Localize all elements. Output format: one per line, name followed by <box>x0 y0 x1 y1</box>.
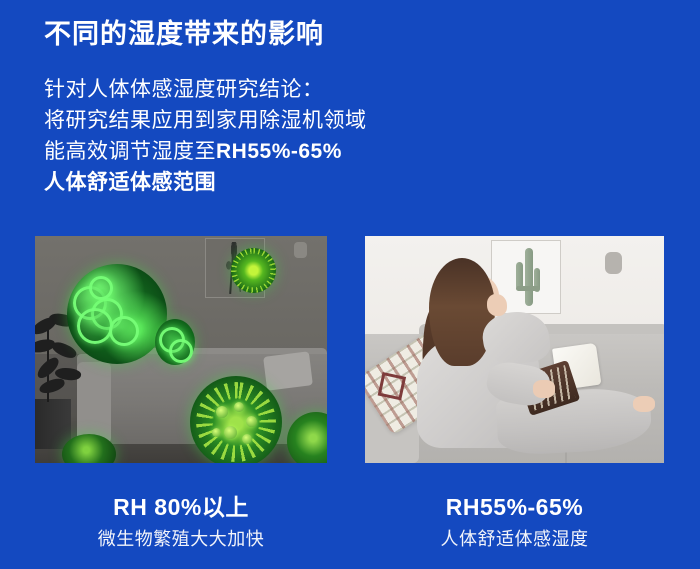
microbe-dot <box>224 426 237 439</box>
plant-leaf <box>38 377 66 395</box>
bright-room-scene <box>365 236 664 463</box>
body-line-1: 针对人体体感湿度研究结论： <box>44 74 367 105</box>
microbe-virus-icon <box>190 376 282 463</box>
body-line-3: 能高效调节湿度至RH55%-65% <box>44 136 367 167</box>
foot <box>633 396 655 412</box>
caption-title: RH 80%以上 <box>35 494 327 522</box>
microbe-dot <box>216 406 228 418</box>
poster-root: 不同的湿度带来的影响 针对人体体感湿度研究结论： 将研究结果应用到家用除湿机领域… <box>0 0 700 569</box>
microbe-cell <box>89 276 113 300</box>
woman-reading <box>401 254 651 454</box>
caption-title: RH55%-65% <box>365 494 664 522</box>
body-line-3-prefix: 能高效调节湿度至 <box>44 140 216 163</box>
panel-image-high-humidity <box>35 236 327 463</box>
page-title: 不同的湿度带来的影响 <box>44 18 324 50</box>
microbe-dot <box>246 416 257 427</box>
body-line-3-emphasis: RH55%-65% <box>216 140 342 163</box>
microbe-bubbles <box>67 264 167 364</box>
plant-pot <box>35 399 71 449</box>
wall-knob <box>294 242 307 258</box>
microbe-spikes <box>231 248 276 293</box>
hand-on-forehead <box>487 294 507 316</box>
microbe-dot <box>242 434 252 444</box>
microbe-cluster-icon <box>155 319 195 365</box>
dark-room-scene <box>35 236 327 463</box>
hand-holding-book <box>533 380 555 398</box>
microbe-bubbles <box>155 319 195 365</box>
microbe-dots <box>190 376 282 463</box>
caption-subtitle: 微生物繁殖大大加快 <box>35 529 327 551</box>
microbe-cell <box>77 308 113 344</box>
microbe-dot <box>212 428 221 437</box>
caption-high-humidity: RH 80%以上 微生物繁殖大大加快 <box>35 494 327 550</box>
microbe-cell <box>169 339 193 363</box>
caption-comfort-humidity: RH55%-65% 人体舒适体感湿度 <box>365 494 664 550</box>
microbe-spiky-icon <box>231 248 276 293</box>
microbe-cluster-icon <box>67 264 167 364</box>
body-line-4: 人体舒适体感范围 <box>44 167 367 198</box>
microbe-dot <box>234 402 244 412</box>
body-copy: 针对人体体感湿度研究结论： 将研究结果应用到家用除湿机领域 能高效调节湿度至RH… <box>44 74 367 198</box>
microbe-cell <box>109 316 139 346</box>
body-line-2: 将研究结果应用到家用除湿机领域 <box>44 105 367 136</box>
caption-subtitle: 人体舒适体感湿度 <box>365 529 664 551</box>
panel-image-comfort-humidity <box>365 236 664 463</box>
